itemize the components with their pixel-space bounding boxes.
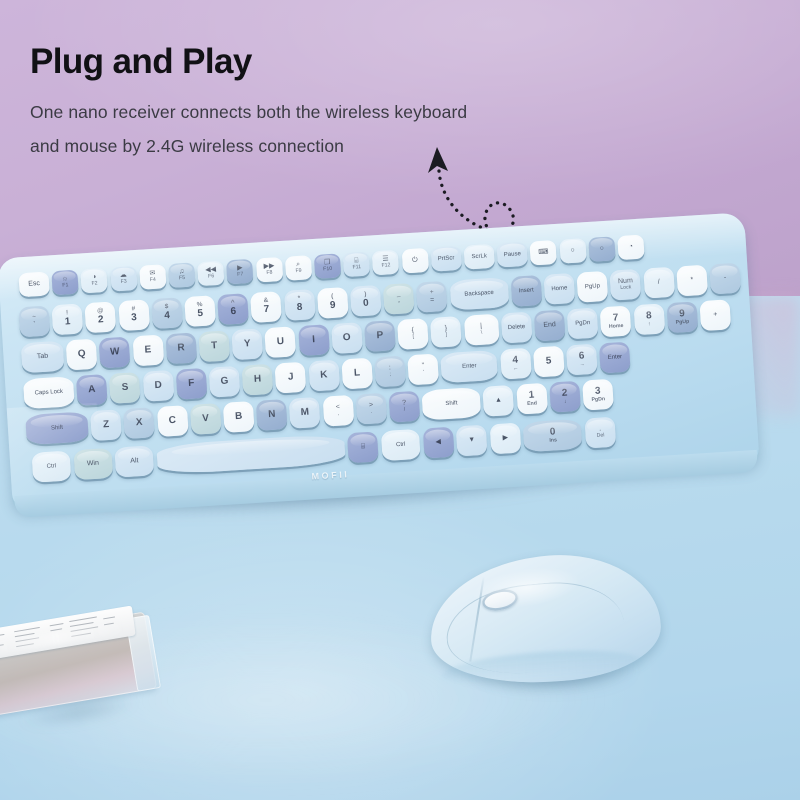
key-pause[interactable]: Pause [497,242,528,268]
key-e[interactable]: E [132,335,164,367]
key-sym[interactable]: "' [407,354,439,386]
key-label: Esc [28,280,40,288]
key-label: 0 [363,299,369,310]
key-w[interactable]: W [99,337,131,369]
key-top-legend: ^ [231,300,235,307]
key-scrlk[interactable]: ScrLk [464,244,495,270]
key-sub-legend: Del [597,434,605,440]
key-sub-legend: ; [390,373,392,379]
key-sym[interactable]: ▲ [483,385,515,417]
key-p[interactable]: P [364,320,396,352]
key-label: 0 [550,427,556,438]
key-label: 6 [230,307,236,318]
key-enter[interactable]: Enter [441,350,499,383]
key-capslock[interactable]: Caps Lock [23,376,75,409]
key-label: PrtScr [438,255,455,262]
key-sym[interactable]: ?/ [388,391,420,423]
key-9[interactable]: 9PgUp [666,301,698,333]
key-label: * [690,277,693,284]
key-label: Pause [504,251,521,258]
key-label: ○ [599,245,604,253]
key-top-legend: @ [97,309,104,316]
key-j[interactable]: J [275,362,307,394]
key-sub-legend: . [371,410,373,416]
key-pgup[interactable]: PgUp [577,271,609,303]
key-win[interactable]: Win [73,448,113,480]
key-label: N [268,409,276,420]
key-label: 5 [197,309,203,320]
key-label: Q [78,349,86,360]
key-label: Z [103,420,110,431]
key-n[interactable]: N [256,399,288,431]
key-label: B [235,411,243,422]
key-label: PgUp [585,283,600,290]
key-sub-legend: PgUp [676,320,690,326]
key-sub-legend: F4 [150,278,156,284]
key-sym[interactable]: ○ [559,238,586,264]
key-top-legend: * [298,296,301,303]
key-shift[interactable]: Shift [25,411,89,445]
key-num[interactable]: NumLock [610,269,642,301]
key-sub-legend: F6 [208,274,214,280]
key-sym[interactable]: ▼ [456,425,488,457]
key-a[interactable]: A [76,374,108,406]
key-sym[interactable]: ◔ [617,235,644,261]
key-7[interactable]: &7 [250,291,282,323]
key-sym[interactable]: ~` [18,306,50,338]
product-banner-scene: Plug and Play One nano receiver connects… [0,0,800,800]
key-label: - [398,298,401,305]
key-label: A [88,385,96,396]
key-s[interactable]: S [109,372,141,404]
key-2[interactable]: 2↓ [549,381,581,413]
key-label: S [121,382,128,393]
key-sym[interactable]: ▶F7 [226,259,253,285]
key-label: K [320,370,328,381]
key-sym[interactable]: ▶▶F8 [256,257,283,283]
key-label: G [220,376,228,387]
key-backspace[interactable]: Backspace [449,277,509,311]
key-label: ▲ [495,397,502,405]
key-sym[interactable]: >. [355,393,387,425]
key-sub-legend: ' [423,371,424,377]
key-label: 3 [131,313,137,324]
key-label: L [354,368,361,379]
key-label: Y [244,339,251,350]
key-label: 8 [646,311,652,322]
key-label: F [188,378,195,389]
key-3[interactable]: 3PgDn [582,379,614,411]
key-label: ◀ [435,439,441,447]
key-8[interactable]: *8 [284,289,316,321]
key-g[interactable]: G [209,366,241,398]
key-label: Win [87,460,99,468]
key-label: Backspace [464,290,494,298]
key-sym[interactable]: ○ [588,236,615,262]
key-sym[interactable]: :; [374,356,406,388]
key-sym[interactable]: * [676,265,708,297]
key-sub-legend: F5 [179,276,185,282]
key-alt[interactable]: Alt [115,445,155,477]
key-0[interactable]: )0 [350,285,382,317]
key-c[interactable]: C [157,405,189,437]
key-label: ` [33,321,36,328]
key-label: 3 [595,386,601,397]
key-b[interactable]: B [223,401,255,433]
key-sym[interactable]: += [416,281,448,313]
key-h[interactable]: H [242,364,274,396]
key-sub-legend: Ins [549,438,557,444]
key-8[interactable]: 8↑ [633,303,665,335]
key-top-legend: _ [397,292,401,299]
key-label: C [168,416,176,427]
key-6[interactable]: ^6 [217,293,249,325]
key-sub-legend: F8 [266,271,272,277]
key-sym[interactable]: ◀◀F6 [197,261,224,287]
key-label: R [177,343,185,354]
key-label: J [288,372,294,383]
key-l[interactable]: L [341,358,373,390]
key-v[interactable]: V [190,403,222,435]
key-sym[interactable]: ☼F1 [52,270,79,296]
key-top-legend: % [197,302,203,309]
key-label: Tab [37,353,49,361]
key-9[interactable]: (9 [317,287,349,319]
key-sym[interactable]: ⌸ [347,431,379,463]
key-1[interactable]: 1End [516,383,548,415]
key-r[interactable]: R [165,332,197,364]
key-label: = [430,296,435,304]
key-sym[interactable]: .Del [584,417,616,449]
key-label: 7 [613,313,619,324]
key-label: 1 [528,390,534,401]
key-sub-legend: End [527,401,537,407]
key-o[interactable]: O [331,322,363,354]
key-sym[interactable]: ☁F3 [110,266,137,292]
key-i[interactable]: I [298,324,330,356]
key-0[interactable]: 0Ins [523,419,583,453]
key-top-legend: $ [165,304,169,311]
key-label: ◔ [629,244,634,252]
key-label: I [312,335,315,346]
key-sub-legend: ] [446,333,448,339]
key-label: 7 [263,305,269,316]
key-label: 6 [579,351,585,362]
key-enter[interactable]: Enter [599,342,631,374]
key-delete[interactable]: Delete [501,312,533,344]
key-label: Home [551,285,567,292]
key-sub-legend: → [579,362,585,368]
key-label: 4 [512,355,518,366]
arrow-head [428,147,448,173]
key-label: Alt [130,458,139,466]
key-sym[interactable]: ☰F12 [372,250,399,276]
wireless-keyboard[interactable]: Esc☼F1◑F2☁F3✉F4♫F5◀◀F6▶F7▶▶F8⌕F9❐F10⌸F11… [0,211,781,558]
subtitle-line-1: One nano receiver connects both the wire… [30,96,630,130]
key-label: 2 [98,315,104,326]
key-u[interactable]: U [265,326,297,358]
key-shift[interactable]: Shift [422,387,482,421]
key-label: M [300,407,309,418]
key-sub-legend: F3 [121,280,127,286]
key-label: 8 [297,303,303,314]
key-label: ⌸ [361,443,366,451]
key-label: PgDn [575,320,590,327]
key-label: / [658,279,660,286]
key-sub-legend: F10 [323,267,332,273]
key-sym[interactable]: ✉F4 [139,264,166,290]
key-sym[interactable]: + [699,299,731,331]
key-top-legend: & [263,298,268,305]
key-6[interactable]: 6→ [566,344,598,376]
key-top-legend: ~ [32,314,36,321]
key-label: 2 [562,388,568,399]
key-label: Caps Lock [34,389,63,397]
key-label: ▼ [468,437,475,445]
key-label: ▶ [502,435,508,443]
key-sub-legend: F9 [295,269,301,275]
key-label: 9 [679,309,685,320]
key-7[interactable]: 7Home [600,306,632,338]
key-sym[interactable]: ◑F2 [81,268,108,294]
key-label: Delete [508,324,526,331]
key-label: Shift [51,425,63,432]
key-ctrl[interactable]: Ctrl [32,450,72,482]
key-z[interactable]: Z [90,409,122,441]
key-label: ○ [570,247,575,255]
key-sub-legend: F2 [91,282,97,288]
key-sub-legend: Lock [620,286,631,292]
key-sub-legend: PgDn [591,397,605,403]
key-2[interactable]: @2 [85,301,117,333]
key-ctrl[interactable]: Ctrl [381,429,421,461]
key-home[interactable]: Home [543,273,575,305]
key-top-legend: ( [331,294,334,301]
key-sub-legend: / [404,408,406,414]
key-label: Shift [445,400,457,407]
key-sub-legend: ↑ [648,322,651,328]
key-label: 5 [546,356,552,367]
key-sub-legend: , [337,412,339,418]
key-esc[interactable]: Esc [18,271,49,297]
key-sym[interactable]: / [643,267,675,299]
key-prtscr[interactable]: PrtScr [430,246,461,272]
key-sym[interactable]: ♫F5 [168,262,195,288]
key-sub-legend: ↓ [564,399,567,405]
key-sub-legend: F11 [352,265,361,271]
key-4[interactable]: $4 [151,297,183,329]
key-sub-legend: Home [609,324,624,330]
key-k[interactable]: K [308,360,340,392]
key-1[interactable]: !1 [52,303,84,335]
key-label: 9 [330,301,336,312]
key-sym[interactable]: {[ [397,318,429,350]
key-tab[interactable]: Tab [21,341,65,374]
key-insert[interactable]: Insert [510,275,542,307]
key-label: V [202,414,209,425]
key-label: ⌨ [538,249,549,257]
key-m[interactable]: M [289,397,321,429]
key-label: ⏻ [412,257,418,265]
key-5[interactable]: 5 [533,346,565,378]
key-label: Ctrl [396,442,406,449]
key-label: D [154,380,162,391]
key-sym[interactable]: ⌸F11 [343,252,370,278]
key-sub-legend: \ [481,331,483,337]
key-q[interactable]: Q [66,339,98,371]
key-label: E [144,345,151,356]
key-label: - [724,275,727,282]
key-top-legend: # [131,307,135,314]
key-label: ScrLk [471,253,487,260]
key-sym[interactable]: <, [322,395,354,427]
key-label: 1 [65,317,71,328]
key-label: Insert [519,287,534,294]
key-sym[interactable]: ❐F10 [314,253,341,279]
key-label: U [277,337,285,348]
key-sym[interactable]: _- [383,283,415,315]
key-x[interactable]: X [123,407,155,439]
key-top-legend: + [430,290,434,297]
key-label: Enter [608,354,623,361]
key-3[interactable]: #3 [118,299,150,331]
key-top-legend: ) [364,292,367,299]
key-label: Enter [462,363,477,370]
key-d[interactable]: D [142,370,174,402]
key-y[interactable]: Y [231,328,263,360]
key-sub-legend: [ [412,335,414,341]
key-label: H [254,374,262,385]
key-end[interactable]: End [534,310,566,342]
wireless-mouse[interactable] [424,548,676,708]
key-f[interactable]: F [175,368,207,400]
key-label: W [110,347,120,358]
key-t[interactable]: T [198,330,230,362]
key-sym[interactable]: ◀ [422,427,454,459]
key-label: P [376,331,383,342]
key-top-legend: ! [66,311,69,318]
key-5[interactable]: %5 [184,295,216,327]
key-label: End [543,321,556,329]
key-sym[interactable]: ⌕F9 [285,255,312,281]
key-sym[interactable]: }] [430,316,462,348]
key-label: 4 [164,311,170,322]
key-sub-legend: F1 [62,283,68,289]
key-sym[interactable]: ⌨ [530,240,557,266]
key-label: + [713,311,718,319]
key-label: Ctrl [47,463,57,470]
key-sym[interactable]: ⏻ [401,248,428,274]
key-sym[interactable]: |\ [463,314,499,346]
key-pgdn[interactable]: PgDn [567,308,599,340]
key-sym[interactable]: ▶ [489,423,521,455]
key-label: T [211,341,218,352]
key-sub-legend: ← [513,366,519,372]
key-sub-legend: F7 [237,273,243,279]
key-sym[interactable]: - [709,263,741,295]
key-label: X [136,418,143,429]
key-label: O [343,333,351,344]
key-sub-legend: F12 [381,263,390,269]
key-4[interactable]: 4← [500,348,532,380]
page-title: Plug and Play [30,44,670,79]
